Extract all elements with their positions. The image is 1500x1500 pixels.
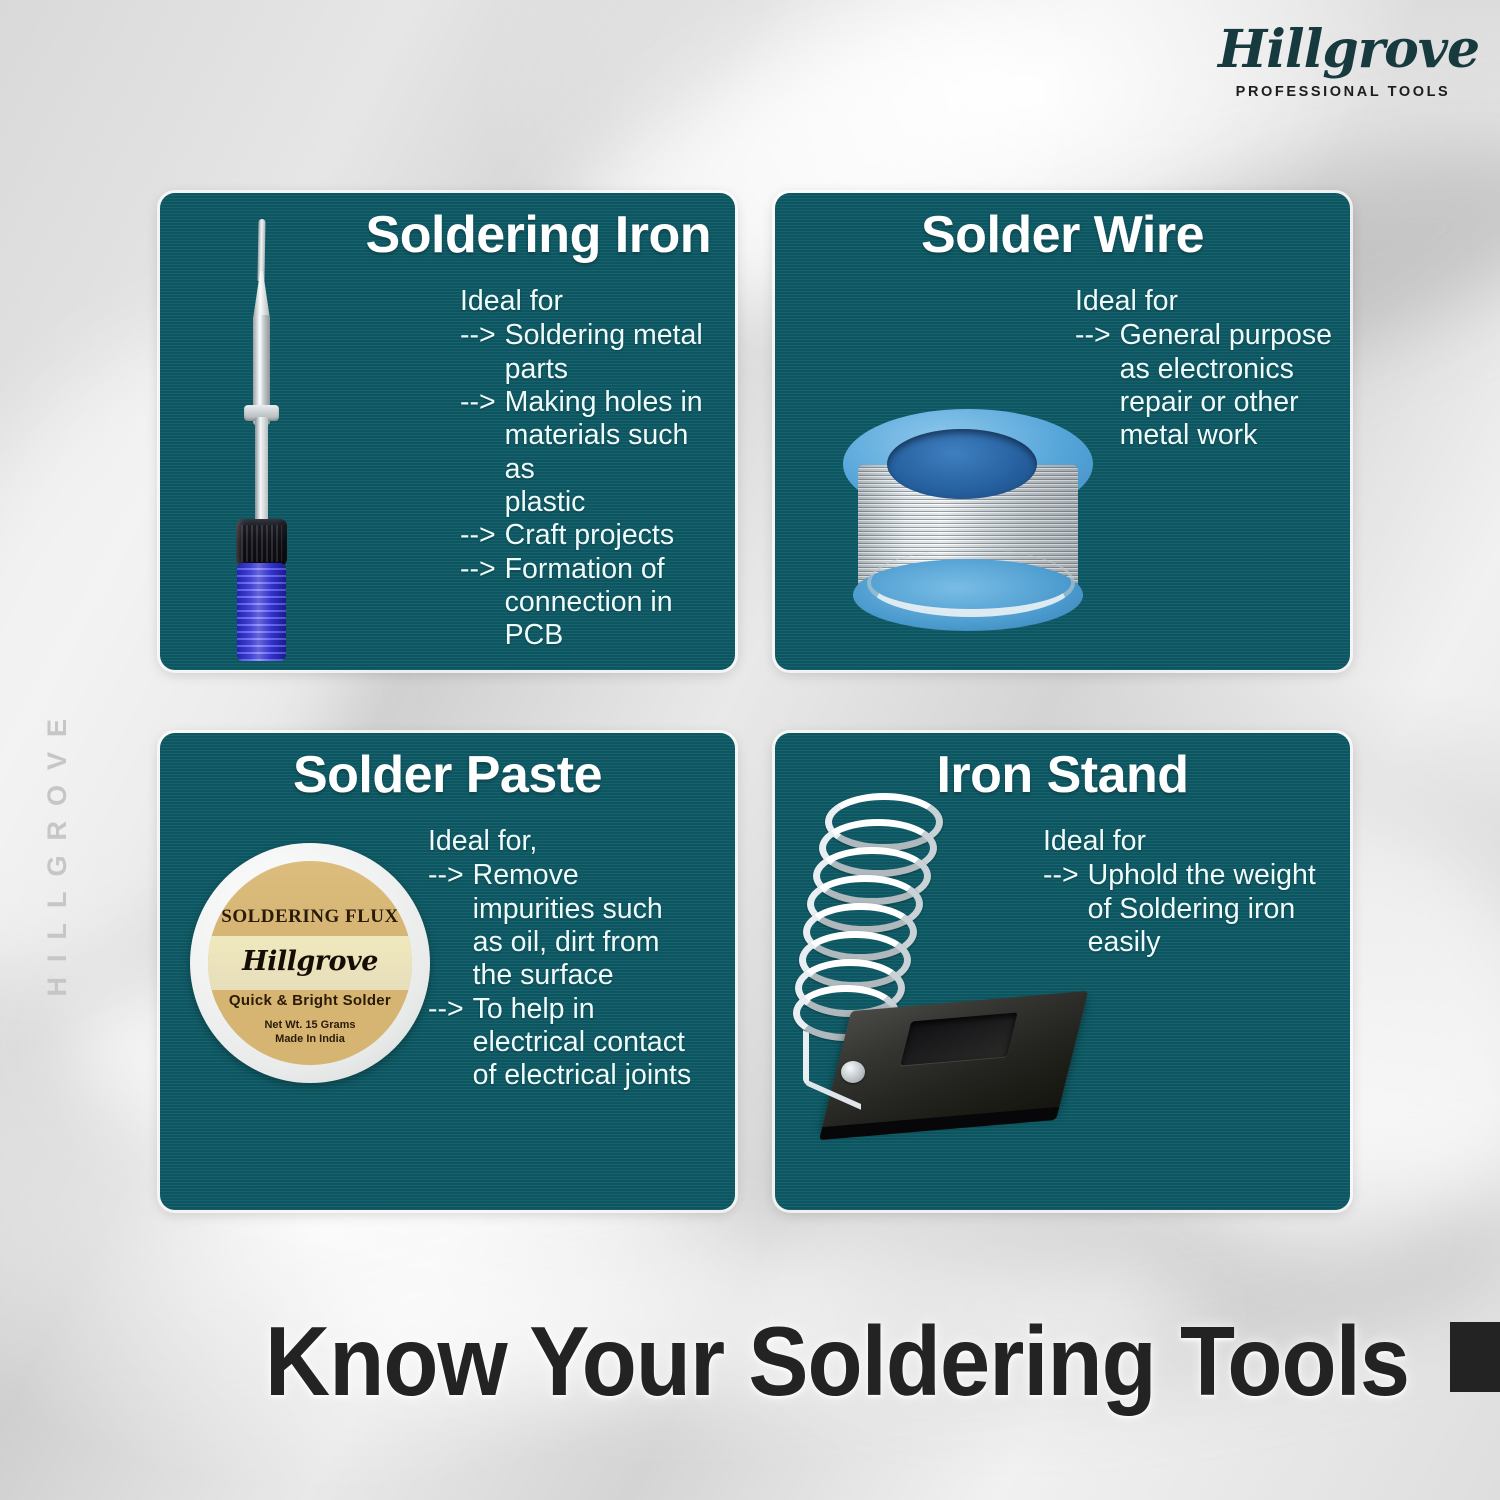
bullet-arrow: -->: [460, 519, 496, 552]
brand-logo: Hillgrove PROFESSIONAL TOOLS: [1218, 22, 1468, 100]
bullet-line: as oil, dirt from: [473, 926, 721, 959]
brand-name: Hillgrove: [1218, 22, 1468, 78]
bullet-arrow: -->: [460, 319, 496, 386]
panel-lead: Ideal for: [1043, 825, 1336, 858]
tin-label-weight: Net Wt. 15 Grams Made In India: [208, 1019, 412, 1047]
bullet-text: Craft projects: [505, 519, 717, 552]
bullet-arrow: -->: [1075, 319, 1111, 452]
bullet-line: Uphold the weight: [1088, 859, 1336, 892]
bullet-line: Formation of: [505, 553, 717, 586]
bullet-arrow: -->: [428, 993, 464, 1093]
panel-body: Ideal for --> Uphold the weight of Solde…: [1043, 825, 1336, 959]
bullet-text: Uphold the weight of Soldering iron easi…: [1088, 859, 1336, 959]
headline-end-block: [1450, 1322, 1500, 1392]
tin-origin: Made In India: [208, 1033, 412, 1047]
bullet-arrow: -->: [1043, 859, 1079, 959]
bullet-line: as electronics: [1120, 353, 1332, 386]
stand-screw: [841, 1061, 865, 1083]
side-watermark-text: HILLGROVE: [42, 704, 73, 997]
bullet-arrow: -->: [460, 553, 496, 653]
iron-grip: [237, 563, 286, 661]
side-watermark: HILLGROVE: [34, 500, 80, 1200]
panel-soldering-iron: Soldering Iron Ideal for --> Soldering m…: [160, 193, 735, 670]
bullet-line: connection in PCB: [505, 586, 717, 653]
bullet-text: Soldering metal parts: [505, 319, 717, 386]
bullet-line: of electrical joints: [473, 1059, 721, 1092]
panel-title: Iron Stand: [775, 747, 1350, 803]
bullet-line: General purpose: [1120, 319, 1332, 352]
bullet-item: --> General purpose as electronics repai…: [1075, 319, 1332, 452]
tin-net-weight: Net Wt. 15 Grams: [208, 1019, 412, 1033]
tin-label-brand: Hillgrove: [208, 946, 412, 977]
bullet-text: Remove impurities such as oil, dirt from…: [473, 859, 721, 992]
bullet-item: --> Craft projects: [460, 519, 717, 552]
soldering-iron-illustration: [206, 219, 316, 661]
panel-lead: Ideal for: [1075, 285, 1332, 318]
bullet-line: electrical contact: [473, 1026, 721, 1059]
spool-center-hole: [887, 429, 1037, 499]
panel-solder-paste: SOLDERING FLUX Hillgrove Quick & Bright …: [160, 733, 735, 1210]
flux-tin-illustration: SOLDERING FLUX Hillgrove Quick & Bright …: [190, 843, 430, 1083]
bottom-headline: Know Your Soldering Tools: [265, 1305, 1409, 1418]
iron-collar: [236, 519, 287, 569]
panel-title: Solder Paste: [160, 747, 735, 803]
bullet-line: plastic: [505, 486, 717, 519]
bullet-text: To help in electrical contact of electri…: [473, 993, 721, 1093]
bullet-item: --> Formation of connection in PCB: [460, 553, 717, 653]
bullet-item: --> Making holes in materials such as pl…: [460, 386, 717, 519]
bullet-line: Remove: [473, 859, 721, 892]
bullet-arrow: -->: [428, 859, 464, 992]
panel-title: Soldering Iron: [160, 207, 711, 263]
bullet-item: --> Soldering metal parts: [460, 319, 717, 386]
panel-grid: Soldering Iron Ideal for --> Soldering m…: [160, 193, 1350, 1210]
panel-body: Ideal for --> Soldering metal parts --> …: [460, 285, 717, 653]
spool-wire-edge: [867, 549, 1075, 617]
panel-body: Ideal for, --> Remove impurities such as…: [428, 825, 721, 1093]
bullet-line: the surface: [473, 959, 721, 992]
bullet-line: impurities such: [473, 893, 721, 926]
bullet-text: Formation of connection in PCB: [505, 553, 717, 653]
bullet-line: metal work: [1120, 419, 1332, 452]
panel-body: Ideal for --> General purpose as electro…: [1075, 285, 1332, 453]
tin-label: SOLDERING FLUX Hillgrove Quick & Bright …: [208, 861, 412, 1065]
bullet-item: --> Uphold the weight of Soldering iron …: [1043, 859, 1336, 959]
iron-shaft: [255, 417, 268, 533]
bullet-line: materials such as: [505, 419, 717, 486]
bullet-line: To help in: [473, 993, 721, 1026]
panel-lead: Ideal for,: [428, 825, 721, 858]
bullet-text: Making holes in materials such as plasti…: [505, 386, 717, 519]
panel-iron-stand: Iron Stand Ideal for --> Uphold the weig…: [775, 733, 1350, 1210]
panel-lead: Ideal for: [460, 285, 717, 318]
bullet-line: repair or other: [1120, 386, 1332, 419]
tin-label-slogan: Quick & Bright Solder: [208, 992, 412, 1009]
bullet-line: of Soldering iron: [1088, 893, 1336, 926]
bullet-text: General purpose as electronics repair or…: [1120, 319, 1332, 452]
bullet-arrow: -->: [460, 386, 496, 519]
infographic-canvas: Hillgrove PROFESSIONAL TOOLS HILLGROVE S…: [0, 0, 1500, 1500]
solder-wire-spool-illustration: [843, 409, 1093, 631]
tin-label-title: SOLDERING FLUX: [208, 906, 412, 928]
bullet-item: --> To help in electrical contact of ele…: [428, 993, 721, 1093]
panel-title: Solder Wire: [775, 207, 1350, 263]
iron-tip-cone: [253, 271, 270, 319]
bullet-line: Making holes in: [505, 386, 717, 419]
brand-tagline: PROFESSIONAL TOOLS: [1218, 84, 1468, 100]
panel-solder-wire: Solder Wire Ideal for --> General purpos…: [775, 193, 1350, 670]
bullet-item: --> Remove impurities such as oil, dirt …: [428, 859, 721, 992]
bullet-line: easily: [1088, 926, 1336, 959]
